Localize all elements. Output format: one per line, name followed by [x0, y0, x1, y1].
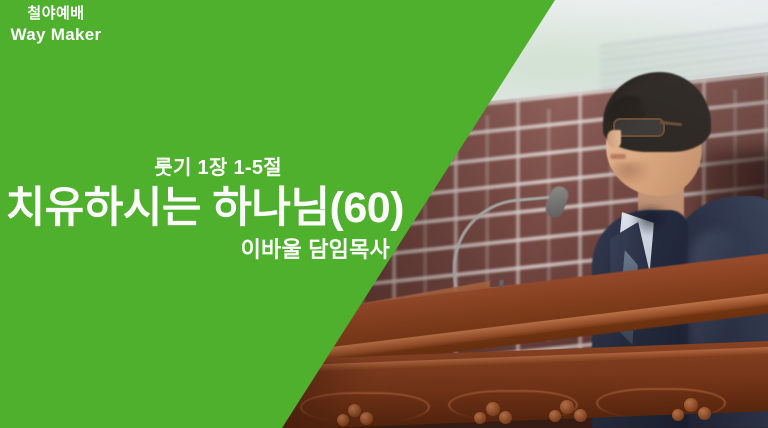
- pulpit-carving-dot: [560, 400, 574, 414]
- collar-shadow: [630, 206, 670, 236]
- pulpit-carving-dot: [486, 402, 500, 416]
- pulpit-carving-dot: [684, 398, 698, 412]
- sermon-title-block: 룻기 1장 1-5절 치유하시는 하나님(60) 이바울 담임목사: [0, 155, 412, 265]
- pulpit-carving-dot: [574, 409, 587, 422]
- pulpit-carving-dot: [549, 410, 561, 422]
- pulpit-carving-dot: [698, 407, 711, 420]
- pulpit-carving-dot: [499, 411, 512, 424]
- mouth: [610, 154, 626, 159]
- eyebrow: [616, 112, 646, 116]
- logo-english-label: Way Maker: [6, 24, 106, 46]
- sermon-title: 치유하시는 하나님(60): [0, 181, 412, 235]
- scripture-reference: 룻기 1장 1-5절: [0, 155, 412, 181]
- sermon-title-card: 철야예배 Way Maker 룻기 1장 1-5절 치유하시는 하나님(60) …: [0, 0, 768, 428]
- speaker-name: 이바울 담임목사: [0, 235, 412, 265]
- pulpit-carving-dot: [672, 409, 684, 421]
- chin-shadow: [612, 162, 652, 188]
- channel-logo: 철야예배 Way Maker: [6, 4, 106, 46]
- logo-korean-label: 철야예배: [6, 4, 106, 24]
- nose: [607, 130, 621, 148]
- pulpit-carving-dot: [474, 412, 486, 424]
